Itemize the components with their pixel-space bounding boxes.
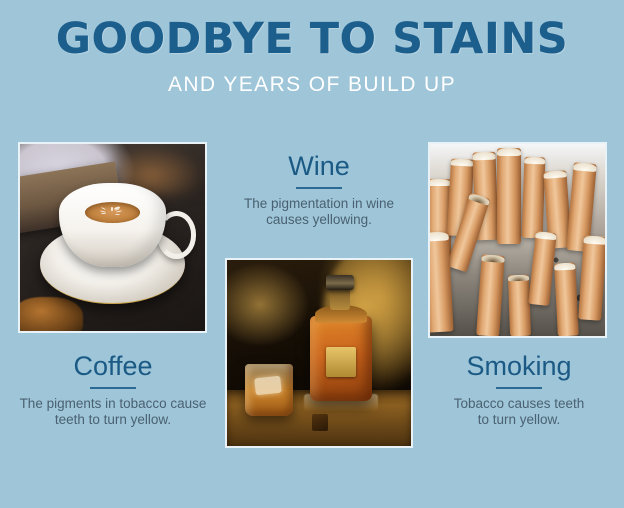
smoking-image-scene bbox=[430, 144, 605, 336]
latte-art-leaf bbox=[115, 214, 120, 215]
smoking-heading-rule bbox=[496, 387, 542, 389]
cigarette-butt bbox=[508, 274, 531, 336]
smoking-image bbox=[428, 142, 607, 338]
wine-heading-rule bbox=[296, 187, 342, 189]
poster-canvas: GOODBYE TO STAINS AND YEARS OF BUILD UP bbox=[0, 0, 624, 508]
smoking-description: Tobacco causes teeth to turn yellow. bbox=[415, 396, 623, 429]
coffee-image-scene bbox=[20, 144, 205, 331]
wine-description: The pigmentation in wine causes yellowin… bbox=[222, 196, 416, 229]
wine-image-scene bbox=[227, 260, 411, 446]
poster-header: GOODBYE TO STAINS AND YEARS OF BUILD UP bbox=[0, 18, 624, 97]
wine-dark-cube bbox=[312, 414, 329, 431]
wine-caption: Wine The pigmentation in wine causes yel… bbox=[222, 152, 416, 229]
wine-image bbox=[225, 258, 413, 448]
wine-heading: Wine bbox=[222, 152, 416, 182]
latte-art-leaf bbox=[101, 213, 106, 214]
cigarette-butt bbox=[521, 157, 545, 238]
coffee-crema-surface bbox=[85, 202, 141, 223]
smoking-caption: Smoking Tobacco causes teeth to turn yel… bbox=[415, 352, 623, 429]
coffee-heading: Coffee bbox=[2, 352, 224, 382]
page-subtitle: AND YEARS OF BUILD UP bbox=[0, 73, 624, 97]
page-title: GOODBYE TO STAINS bbox=[0, 18, 624, 61]
cigarette-butt bbox=[497, 148, 522, 244]
smoking-heading: Smoking bbox=[415, 352, 623, 382]
wine-decanter-stopper bbox=[326, 275, 354, 290]
wine-ice-cube bbox=[254, 376, 281, 395]
cigarette-butt bbox=[554, 263, 579, 336]
coffee-pastry bbox=[20, 297, 83, 331]
latte-art-leaf bbox=[101, 207, 106, 210]
latte-art-leaf bbox=[116, 211, 122, 213]
coffee-heading-rule bbox=[90, 387, 136, 389]
coffee-caption: Coffee The pigments in tobacco cause tee… bbox=[2, 352, 224, 429]
coffee-description: The pigments in tobacco cause teeth to t… bbox=[2, 396, 224, 429]
coffee-image bbox=[18, 142, 207, 333]
wine-decanter-label bbox=[326, 347, 355, 377]
